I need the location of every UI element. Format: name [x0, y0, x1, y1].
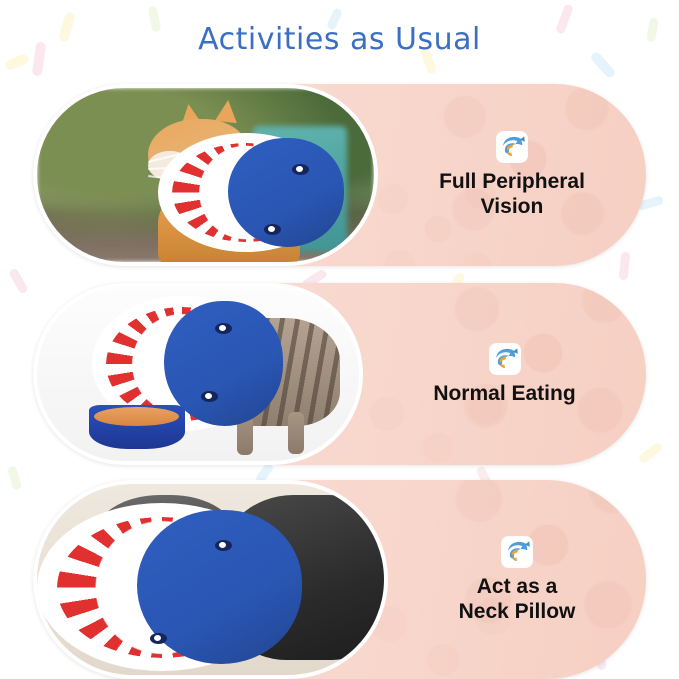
confetti-sprinkle — [8, 267, 29, 294]
page-title: Activities as Usual — [0, 22, 679, 57]
shark-icon — [500, 535, 534, 569]
card-neck-pillow: Act as a Neck Pillow — [33, 480, 646, 679]
poster-canvas: Activities as Usual — [0, 0, 679, 679]
card-label: Normal Eating — [433, 382, 575, 407]
cat-leg — [288, 412, 304, 454]
cat-food — [94, 407, 179, 426]
shark-eye — [264, 224, 281, 235]
card-label: Full Peripheral Vision — [439, 170, 585, 220]
card-photo — [33, 283, 363, 465]
card-label-line2: Neck Pillow — [459, 600, 576, 623]
card-info: Full Peripheral Vision — [378, 84, 646, 266]
photo-scene-cat-outdoor — [37, 88, 374, 262]
shark-eye — [292, 164, 309, 175]
card-label: Act as a Neck Pillow — [459, 575, 576, 625]
card-label-line1: Full Peripheral — [439, 170, 585, 193]
photo-scene-cat-eating — [37, 287, 359, 461]
food-bowl — [89, 405, 186, 449]
photo-scene-cat-sleeping — [37, 484, 384, 675]
shark-body — [228, 138, 344, 247]
shark-recovery-collar — [158, 133, 333, 251]
shark-eye — [201, 391, 218, 402]
card-normal-eating: Normal Eating — [33, 283, 646, 465]
shark-eye — [215, 540, 232, 551]
card-photo — [33, 84, 378, 266]
shark-eye — [215, 323, 232, 334]
card-full-peripheral-vision: Full Peripheral Vision — [33, 84, 646, 266]
card-info: Act as a Neck Pillow — [388, 480, 646, 679]
card-label-line1: Act as a — [477, 575, 558, 598]
shark-icon — [495, 130, 529, 164]
shark-icon — [488, 342, 522, 376]
card-label-line2: Vision — [481, 195, 544, 218]
shark-recovery-collar — [37, 503, 287, 671]
card-label-line1: Normal Eating — [433, 382, 575, 405]
card-photo — [33, 480, 388, 679]
card-info: Normal Eating — [363, 283, 646, 465]
cat-ear — [215, 99, 239, 123]
confetti-sprinkle — [7, 465, 22, 491]
